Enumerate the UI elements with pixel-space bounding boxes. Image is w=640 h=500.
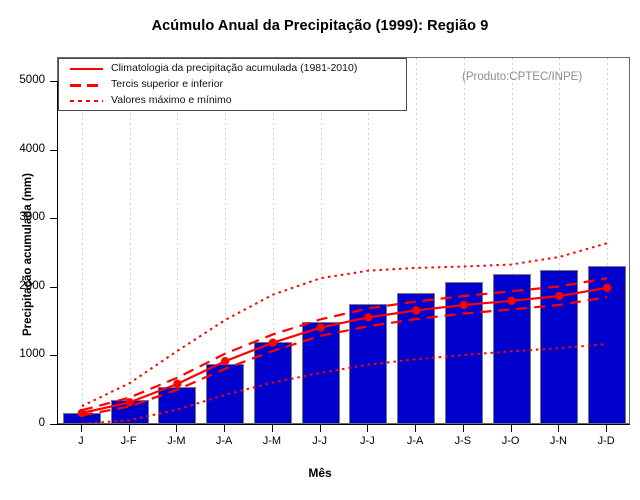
bar: [349, 304, 387, 423]
x-axis-line: [57, 424, 630, 425]
x-tick-mark: [415, 425, 416, 432]
bar: [588, 266, 626, 424]
x-tick-mark: [176, 425, 177, 432]
x-tick-mark: [320, 425, 321, 432]
x-tick-mark: [606, 425, 607, 432]
x-tick-label: J-N: [532, 435, 584, 447]
legend-label: Tercis superior e inferior: [111, 78, 223, 90]
x-tick-mark: [272, 425, 273, 432]
x-tick-label: J: [55, 435, 107, 447]
x-tick-label: J-O: [485, 435, 537, 447]
plot-inner: [58, 58, 629, 423]
x-tick-mark: [463, 425, 464, 432]
y-tick-label: 2000: [0, 280, 45, 292]
bar: [493, 274, 531, 423]
x-tick-mark: [511, 425, 512, 432]
x-tick-mark: [81, 425, 82, 432]
x-tick-label: J-J: [341, 435, 393, 447]
gridline: [177, 58, 178, 423]
y-tick-label: 3000: [0, 211, 45, 223]
chart-root: Acúmulo Anual da Precipitação (1999): Re…: [0, 0, 640, 500]
legend-item-extremos: Valores máximo e mínimo: [59, 94, 406, 109]
gridline: [130, 58, 131, 423]
x-tick-label: J-M: [246, 435, 298, 447]
x-tick-label: J-J: [294, 435, 346, 447]
x-tick-label: J-A: [198, 435, 250, 447]
x-tick-label: J-A: [389, 435, 441, 447]
legend-item-tercis: Tercis superior e inferior: [59, 78, 406, 93]
y-tick-mark: [50, 81, 57, 82]
bar: [63, 413, 101, 423]
y-tick-label: 1000: [0, 348, 45, 360]
gridline: [82, 58, 83, 423]
y-tick-mark: [50, 218, 57, 219]
y-tick-label: 5000: [0, 74, 45, 86]
x-tick-label: J-D: [580, 435, 632, 447]
legend-swatch-dotted-icon: [70, 100, 103, 102]
bar: [445, 282, 483, 423]
x-tick-mark: [224, 425, 225, 432]
x-tick-label: J-S: [437, 435, 489, 447]
bar: [111, 400, 149, 423]
legend-swatch-solid-icon: [70, 68, 103, 70]
bar: [254, 342, 292, 423]
bar: [206, 364, 244, 423]
x-tick-label: J-M: [150, 435, 202, 447]
bar: [302, 322, 340, 423]
legend-label: Climatologia da precipitação acumulada (…: [111, 62, 357, 74]
y-tick-label: 0: [0, 417, 45, 429]
y-axis-title: Precipitação acumulada (mm): [22, 173, 34, 336]
x-tick-mark: [367, 425, 368, 432]
legend: Climatologia da precipitação acumulada (…: [58, 58, 407, 111]
bar: [540, 270, 578, 423]
legend-label: Valores máximo e mínimo: [111, 94, 232, 106]
x-axis-title: Mês: [0, 466, 640, 480]
x-tick-label: J-F: [103, 435, 155, 447]
bar: [158, 387, 196, 423]
y-axis-line: [57, 81, 58, 424]
y-tick-label: 4000: [0, 143, 45, 155]
plot-area: [57, 57, 630, 424]
x-tick-mark: [558, 425, 559, 432]
bar: [397, 293, 435, 423]
y-tick-mark: [50, 355, 57, 356]
producer-note: (Produto:CPTEC/INPE): [462, 71, 582, 83]
legend-swatch-dashed-icon: [70, 84, 103, 87]
y-tick-mark: [50, 424, 57, 425]
x-tick-mark: [129, 425, 130, 432]
chart-title: Acúmulo Anual da Precipitação (1999): Re…: [0, 18, 640, 34]
legend-item-climatologia: Climatologia da precipitação acumulada (…: [59, 62, 406, 77]
y-tick-mark: [50, 287, 57, 288]
y-tick-mark: [50, 150, 57, 151]
